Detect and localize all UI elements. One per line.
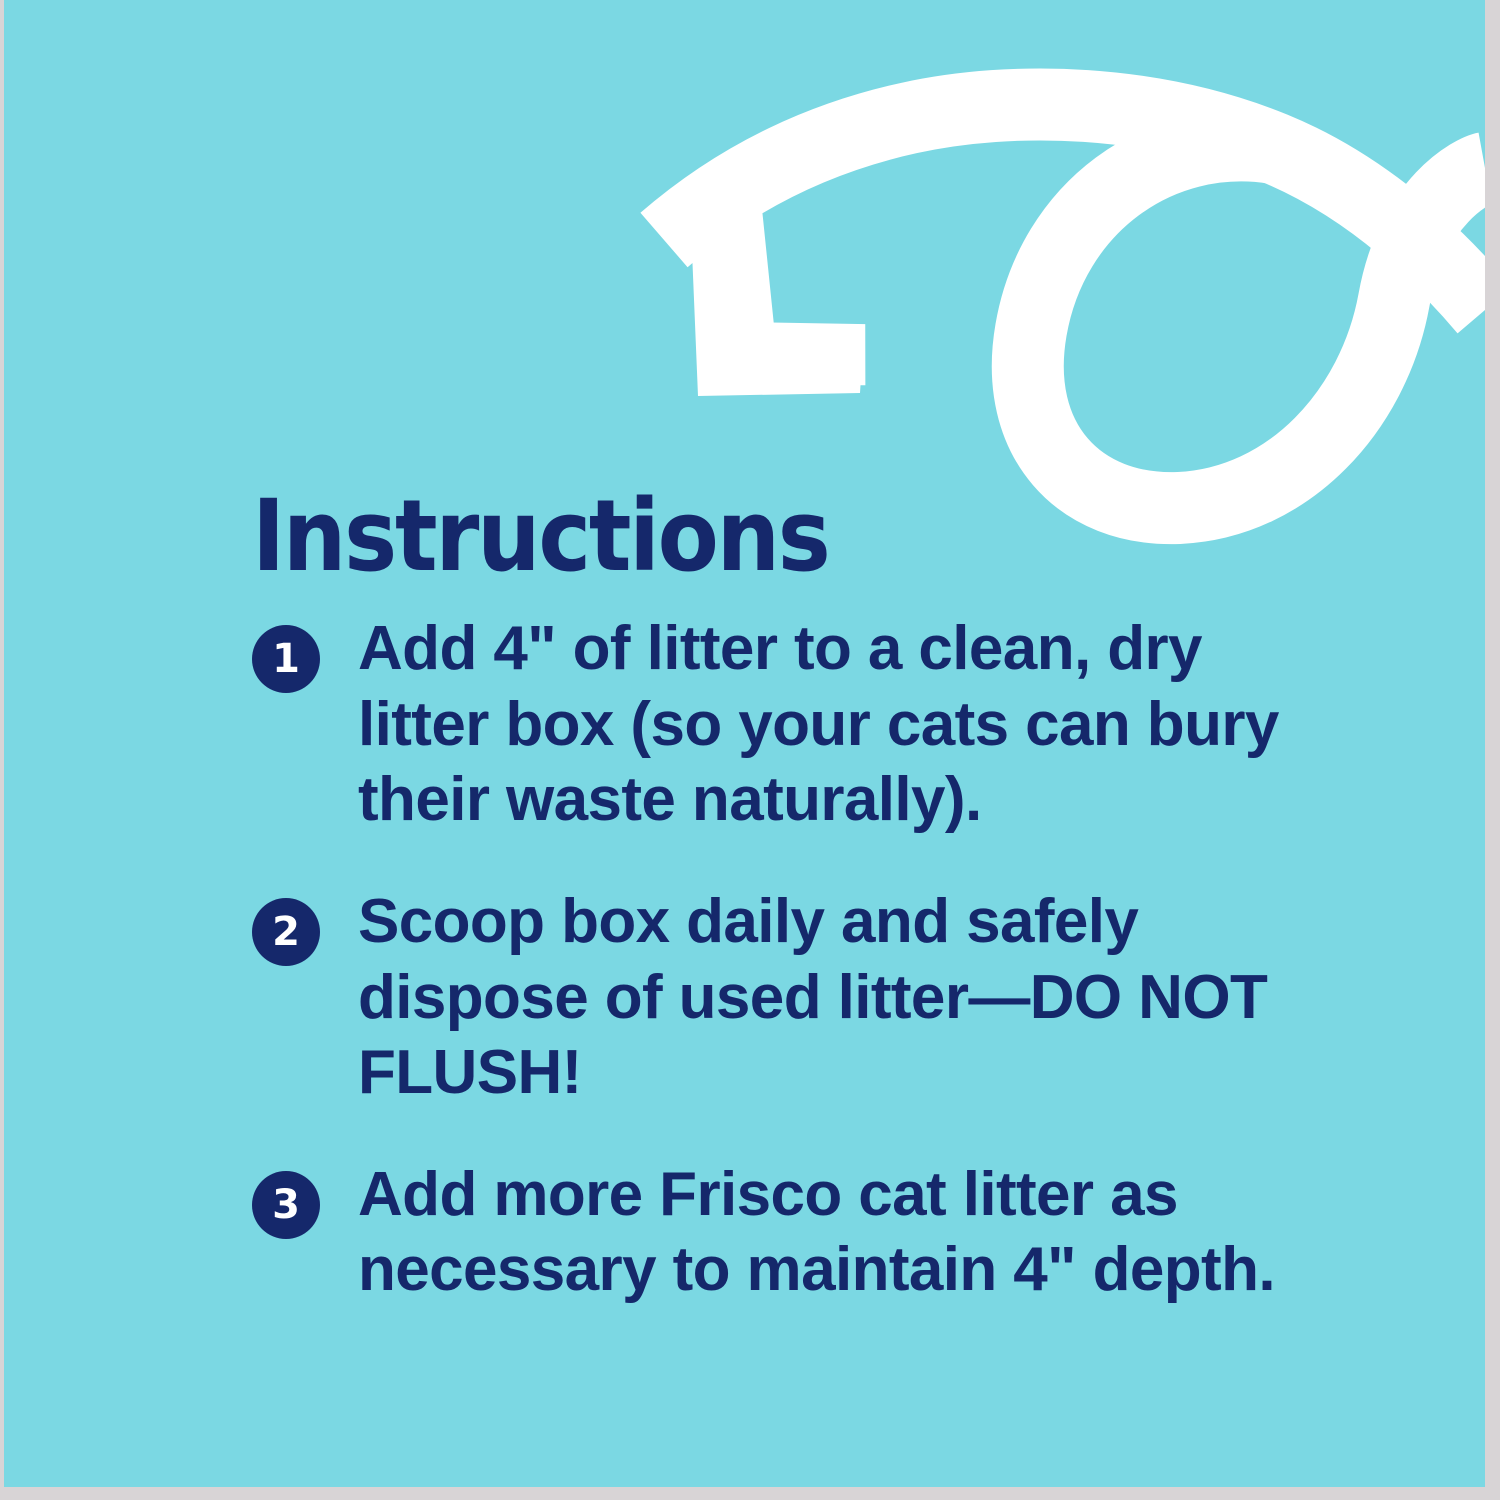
instructions-content: Instructions 1 Add 4" of litter to a cle… xyxy=(252,488,1312,1308)
list-item: 1 Add 4" of litter to a clean, dry litte… xyxy=(252,611,1312,838)
step-number-badge-2: 2 xyxy=(252,898,320,966)
step-text-2: Scoop box daily and safely dispose of us… xyxy=(358,884,1293,1111)
page-title: Instructions xyxy=(252,488,1312,585)
step-number-badge-3: 3 xyxy=(252,1171,320,1239)
instructions-card: Instructions 1 Add 4" of litter to a cle… xyxy=(0,0,1500,1500)
list-item: 2 Scoop box daily and safely dispose of … xyxy=(252,884,1312,1111)
steps-list: 1 Add 4" of litter to a clean, dry litte… xyxy=(252,611,1312,1308)
step-text-1: Add 4" of litter to a clean, dry litter … xyxy=(358,611,1293,838)
list-item: 3 Add more Frisco cat litter as necessar… xyxy=(252,1157,1312,1308)
step-text-3: Add more Frisco cat litter as necessary … xyxy=(358,1157,1293,1308)
step-number-badge-1: 1 xyxy=(252,625,320,693)
step-text-2-lead: Scoop box daily and safely dispose of us… xyxy=(358,887,1138,1032)
teal-panel: Instructions 1 Add 4" of litter to a cle… xyxy=(4,0,1485,1487)
curved-loop-arrow-icon xyxy=(4,0,1485,560)
